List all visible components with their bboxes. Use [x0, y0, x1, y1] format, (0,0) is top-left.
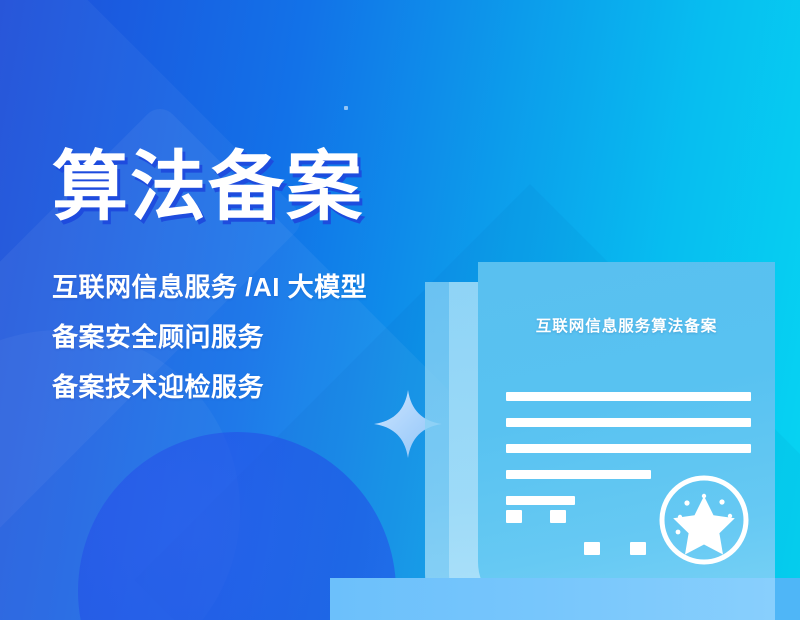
dot-sparkle-icon — [344, 106, 348, 110]
certificate-title: 互联网信息服务算法备案 — [478, 314, 775, 336]
service-item-1: 互联网信息服务 /AI 大模型 — [52, 274, 452, 300]
certificate-line-1 — [506, 392, 751, 401]
bottom-accent-band — [330, 578, 800, 620]
service-item-3: 备案技术迎检服务 — [52, 374, 452, 400]
banner-copy-block: 算法备案 互联网信息服务 /AI 大模型 备案安全顾问服务 备案技术迎检服务 — [52, 150, 452, 400]
service-item-2: 备案安全顾问服务 — [52, 324, 452, 350]
certificate-stack: 互联网信息服务算法备案 — [425, 262, 785, 620]
star-seal-icon — [656, 472, 752, 568]
certificate-square-3 — [584, 542, 600, 555]
certificate-page-front: 互联网信息服务算法备案 — [478, 262, 775, 614]
certificate-line-5 — [506, 496, 575, 505]
service-list: 互联网信息服务 /AI 大模型 备案安全顾问服务 备案技术迎检服务 — [52, 274, 452, 400]
certificate-line-3 — [506, 444, 751, 453]
certificate-line-4 — [506, 470, 651, 479]
certificate-square-2 — [550, 510, 566, 523]
certificate-square-4 — [630, 542, 646, 555]
algorithm-filing-banner: 算法备案 互联网信息服务 /AI 大模型 备案安全顾问服务 备案技术迎检服务 互… — [0, 0, 800, 620]
certificate-square-1 — [506, 510, 522, 523]
page-title: 算法备案 — [52, 150, 452, 226]
bottom-accent-band-right — [775, 578, 800, 620]
certificate-line-2 — [506, 418, 751, 427]
